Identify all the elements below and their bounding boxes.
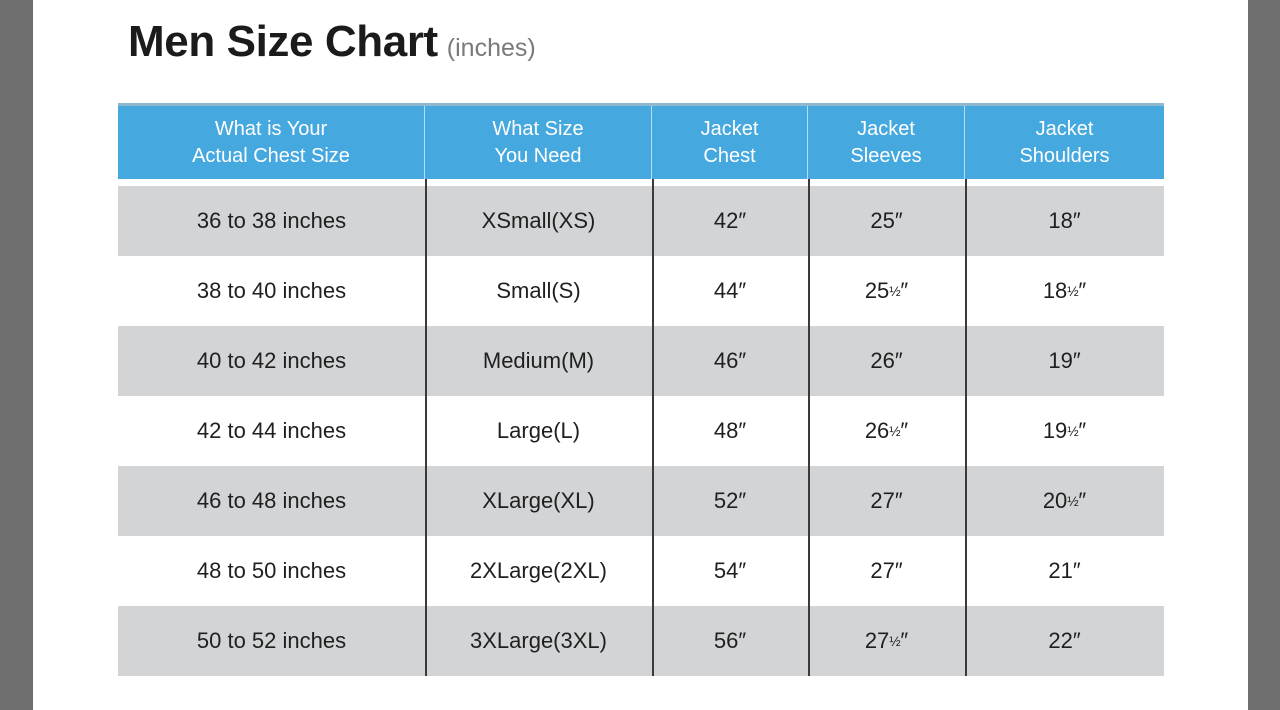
header-line-2: Shoulders (1019, 143, 1109, 170)
inch-mark: ″ (1073, 628, 1081, 654)
inch-mark: ″ (895, 558, 903, 584)
inch-mark: ″ (895, 488, 903, 514)
cell-jacket-sleeves: 27″ (808, 466, 965, 536)
table-body: 36 to 38 inchesXSmall(XS)42″25″18″38 to … (118, 179, 1164, 676)
column-header-chest-range: What is Your Actual Chest Size (118, 106, 425, 179)
page-title: Men Size Chart (inches) (128, 20, 536, 64)
header-line-1: Jacket (857, 116, 915, 143)
inch-mark: ″ (738, 278, 746, 304)
table-row: 40 to 42 inchesMedium(M)46″26″19″ (118, 326, 1164, 396)
column-header-size-needed: What Size You Need (425, 106, 652, 179)
cell-chest-range: 36 to 38 inches (118, 186, 425, 256)
inch-mark: ″ (1078, 418, 1086, 444)
letterbox-bar-right (1248, 0, 1280, 710)
table-row: 38 to 40 inchesSmall(S)44″25½″18½″ (118, 256, 1164, 326)
size-chart-table: What is Your Actual Chest Size What Size… (118, 103, 1164, 676)
cell-jacket-shoulders: 18½″ (965, 256, 1164, 326)
inch-mark: ″ (1078, 278, 1086, 304)
column-header-jacket-shoulders: Jacket Shoulders (965, 106, 1164, 179)
cell-jacket-shoulders: 19½″ (965, 396, 1164, 466)
cell-jacket-chest: 44″ (652, 256, 808, 326)
screenshot-stage: Men Size Chart (inches) What is Your Act… (0, 0, 1280, 710)
header-line-1: Jacket (1036, 116, 1094, 143)
cell-jacket-sleeves: 26″ (808, 326, 965, 396)
cell-jacket-shoulders: 18″ (965, 186, 1164, 256)
table-header-row: What is Your Actual Chest Size What Size… (118, 103, 1164, 179)
table-row: 46 to 48 inchesXLarge(XL)52″27″20½″ (118, 466, 1164, 536)
cell-jacket-chest: 54″ (652, 536, 808, 606)
cell-jacket-sleeves: 27½″ (808, 606, 965, 676)
title-units: (inches) (447, 36, 536, 61)
inch-mark: ″ (738, 348, 746, 374)
inch-mark: ″ (1073, 558, 1081, 584)
header-line-2: Chest (703, 143, 755, 170)
cell-size-needed: 3XLarge(3XL) (425, 606, 652, 676)
inch-mark: ″ (738, 418, 746, 444)
header-line-1: What is Your (215, 116, 327, 143)
table-row: 42 to 44 inchesLarge(L)48″26½″19½″ (118, 396, 1164, 466)
header-line-1: What Size (492, 116, 583, 143)
cell-chest-range: 46 to 48 inches (118, 466, 425, 536)
half-fraction: ½ (889, 284, 900, 299)
inch-mark: ″ (895, 348, 903, 374)
cell-jacket-chest: 48″ (652, 396, 808, 466)
document-page: Men Size Chart (inches) What is Your Act… (33, 0, 1248, 710)
cell-size-needed: XSmall(XS) (425, 186, 652, 256)
cell-size-needed: 2XLarge(2XL) (425, 536, 652, 606)
cell-jacket-sleeves: 26½″ (808, 396, 965, 466)
cell-chest-range: 48 to 50 inches (118, 536, 425, 606)
inch-mark: ″ (738, 488, 746, 514)
cell-chest-range: 38 to 40 inches (118, 256, 425, 326)
inch-mark: ″ (738, 208, 746, 234)
half-fraction: ½ (889, 634, 900, 649)
cell-jacket-sleeves: 25½″ (808, 256, 965, 326)
header-line-1: Jacket (701, 116, 759, 143)
cell-size-needed: Small(S) (425, 256, 652, 326)
inch-mark: ″ (738, 558, 746, 584)
cell-jacket-chest: 56″ (652, 606, 808, 676)
half-fraction: ½ (1067, 424, 1078, 439)
half-fraction: ½ (1067, 494, 1078, 509)
half-fraction: ½ (889, 424, 900, 439)
cell-size-needed: Medium(M) (425, 326, 652, 396)
table-row: 36 to 38 inchesXSmall(XS)42″25″18″ (118, 186, 1164, 256)
cell-jacket-shoulders: 20½″ (965, 466, 1164, 536)
cell-jacket-shoulders: 22″ (965, 606, 1164, 676)
cell-chest-range: 50 to 52 inches (118, 606, 425, 676)
cell-size-needed: Large(L) (425, 396, 652, 466)
table-row: 50 to 52 inches3XLarge(3XL)56″27½″22″ (118, 606, 1164, 676)
column-header-jacket-sleeves: Jacket Sleeves (808, 106, 965, 179)
column-header-jacket-chest: Jacket Chest (652, 106, 808, 179)
inch-mark: ″ (895, 208, 903, 234)
inch-mark: ″ (1073, 208, 1081, 234)
cell-jacket-chest: 42″ (652, 186, 808, 256)
cell-size-needed: XLarge(XL) (425, 466, 652, 536)
header-line-2: You Need (494, 143, 581, 170)
inch-mark: ″ (738, 628, 746, 654)
table-row: 48 to 50 inches2XLarge(2XL)54″27″21″ (118, 536, 1164, 606)
title-main: Men Size Chart (128, 20, 438, 64)
cell-jacket-sleeves: 27″ (808, 536, 965, 606)
inch-mark: ″ (1073, 348, 1081, 374)
cell-chest-range: 42 to 44 inches (118, 396, 425, 466)
inch-mark: ″ (900, 628, 908, 654)
cell-jacket-chest: 52″ (652, 466, 808, 536)
half-fraction: ½ (1067, 284, 1078, 299)
inch-mark: ″ (900, 418, 908, 444)
cell-jacket-chest: 46″ (652, 326, 808, 396)
inch-mark: ″ (1078, 488, 1086, 514)
cell-jacket-shoulders: 21″ (965, 536, 1164, 606)
cell-jacket-shoulders: 19″ (965, 326, 1164, 396)
letterbox-bar-left (0, 0, 33, 710)
header-line-2: Actual Chest Size (192, 143, 350, 170)
header-line-2: Sleeves (850, 143, 921, 170)
inch-mark: ″ (900, 278, 908, 304)
cell-chest-range: 40 to 42 inches (118, 326, 425, 396)
cell-jacket-sleeves: 25″ (808, 186, 965, 256)
